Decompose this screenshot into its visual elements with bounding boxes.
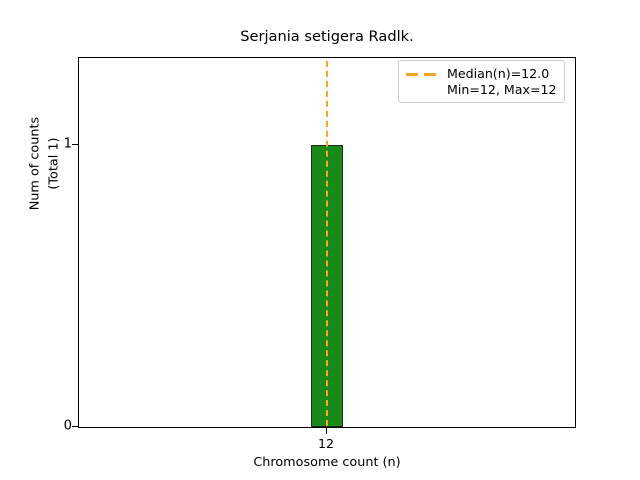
chart-legend: Median(n)=12.0 Min=12, Max=12 (398, 60, 565, 103)
x-tick-label-12: 12 (286, 436, 366, 451)
plot-area (78, 57, 576, 428)
y-axis-label-line2: (Total 1) (45, 0, 64, 354)
y-axis-label: Num of counts (Total 1) (26, 0, 63, 354)
chart-figure: Serjania setigera Radlk. 0 1 12 Chromoso… (0, 0, 640, 480)
chart-title: Serjania setigera Radlk. (78, 28, 576, 45)
y-axis-label-line1: Num of counts (26, 0, 45, 354)
legend-entry-median: Median(n)=12.0 (405, 66, 557, 81)
y-tick-label-0: 0 (12, 419, 72, 434)
dashed-line-icon (405, 67, 439, 81)
median-line (326, 61, 328, 426)
x-tick-mark-12 (326, 428, 327, 434)
legend-label-median: Median(n)=12.0 (447, 66, 549, 81)
legend-entry-minmax: Min=12, Max=12 (405, 82, 557, 97)
legend-label-minmax: Min=12, Max=12 (447, 82, 557, 97)
x-axis-label: Chromosome count (n) (78, 455, 576, 470)
